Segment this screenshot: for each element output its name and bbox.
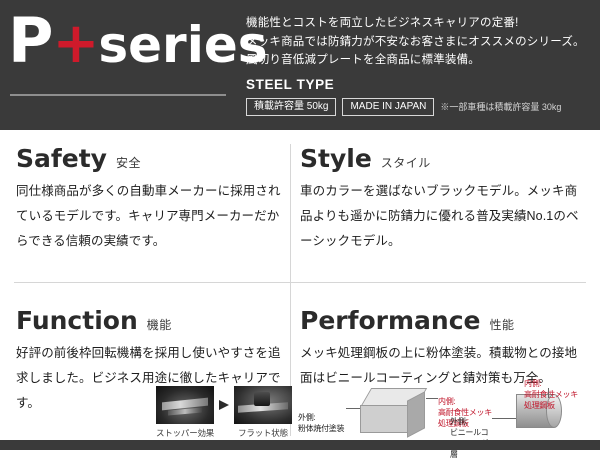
performance-title-en: Performance [300,308,480,333]
header-copy-line-2: メッキ商品では防錆力が不安なお客さまにオススメのシリーズ。 [246,33,592,52]
badge-made-in-japan: MADE IN JAPAN [342,98,434,116]
style-title-en: Style [300,146,372,171]
function-photo-stopper: ストッパー効果 [156,386,214,439]
header-copy-line-3: 風切り音低減プレートを全商品に標準装備。 [246,51,592,70]
cube-label-inner-head: 内側: [438,396,494,407]
header-copy-line-1: 機能性とコストを両立したビジネスキャリアの定番! [246,14,592,33]
leader-line-1 [346,408,360,409]
footer-bar [0,440,600,450]
style-body: 車のカラーを選ばないブラックモデル。メッキ商品よりも遥かに防錆力に優れる普及実績… [300,179,580,254]
cyl-label-outer: 外側: ビニールコーティング層 [450,416,490,460]
feature-safety: Safety 安全 同仕様商品が多くの自動車メーカーに採用されているモデルです。… [14,146,284,294]
style-title-ja: スタイル [381,154,431,171]
cyl-label-inner-head: 内側: [524,378,580,389]
safety-body: 同仕様商品が多くの自動車メーカーに採用されているモデルです。キャリア専門メーカー… [16,179,284,254]
logo-series-word: series [98,16,267,74]
cyl-label-inner: 内側: 高耐食性メッキ処理鋼板 [524,378,580,411]
function-photo-flat: フラット状態 [234,386,292,439]
badge-footnote: ※一部車種は積載許容量 30kg [440,100,561,113]
cube-label-outer: 外側: 粉体焼付塗装 [298,412,358,434]
header-copy-block: 機能性とコストを両立したビジネスキャリアの定番! メッキ商品では防錆力が不安なお… [246,14,592,116]
performance-title-ja: 性能 [489,316,514,333]
feature-style: Style スタイル 車のカラーを選ばないブラックモデル。メッキ商品よりも遥かに… [298,146,580,294]
style-title: Style スタイル [300,146,580,171]
product-logo: P+series [0,0,236,130]
function-title-en: Function [16,308,138,333]
safety-title: Safety 安全 [16,146,284,171]
badge-load-capacity: 積載許容量 50kg [246,98,336,116]
arrow-right-icon [218,386,230,424]
logo-text: P+series [8,10,268,72]
leader-line-2 [426,398,438,399]
page-header: P+series 機能性とコストを両立したビジネスキャリアの定番! メッキ商品で… [0,0,600,130]
safety-title-ja: 安全 [116,154,141,171]
cube-label-outer-head: 外側: [298,412,358,423]
function-photo-strip: ストッパー効果 フラット状態 [156,386,296,439]
spec-badges: 積載許容量 50kg MADE IN JAPAN ※一部車種は積載許容量 30k… [246,98,592,116]
feature-grid-area: Safety 安全 同仕様商品が多くの自動車メーカーに採用されているモデルです。… [0,130,600,450]
function-title: Function 機能 [16,308,284,333]
function-photo-caption-2: フラット状態 [234,427,292,439]
cyl-label-outer-head: 外側: [450,416,490,427]
feature-grid: Safety 安全 同仕様商品が多くの自動車メーカーに採用されているモデルです。… [14,146,586,468]
safety-title-en: Safety [16,146,107,171]
cyl-label-inner-text: 高耐食性メッキ処理鋼板 [524,390,578,410]
carrier-flat-photo [234,386,292,424]
performance-title: Performance 性能 [300,308,580,333]
carrier-stopper-photo [156,386,214,424]
steel-type-label: STEEL TYPE [246,77,592,92]
logo-letter-p: P [8,4,52,77]
function-title-ja: 機能 [147,316,172,333]
leader-line-3 [492,418,516,419]
coated-steel-cube-illustration [360,388,434,436]
function-photo-caption-1: ストッパー効果 [156,427,214,439]
leader-line-4 [548,388,549,398]
cube-label-outer-text: 粉体焼付塗装 [298,424,344,433]
logo-plus-symbol: + [52,11,98,76]
logo-underline [10,94,226,96]
product-feature-page: P+series 機能性とコストを両立したビジネスキャリアの定番! メッキ商品で… [0,0,600,450]
